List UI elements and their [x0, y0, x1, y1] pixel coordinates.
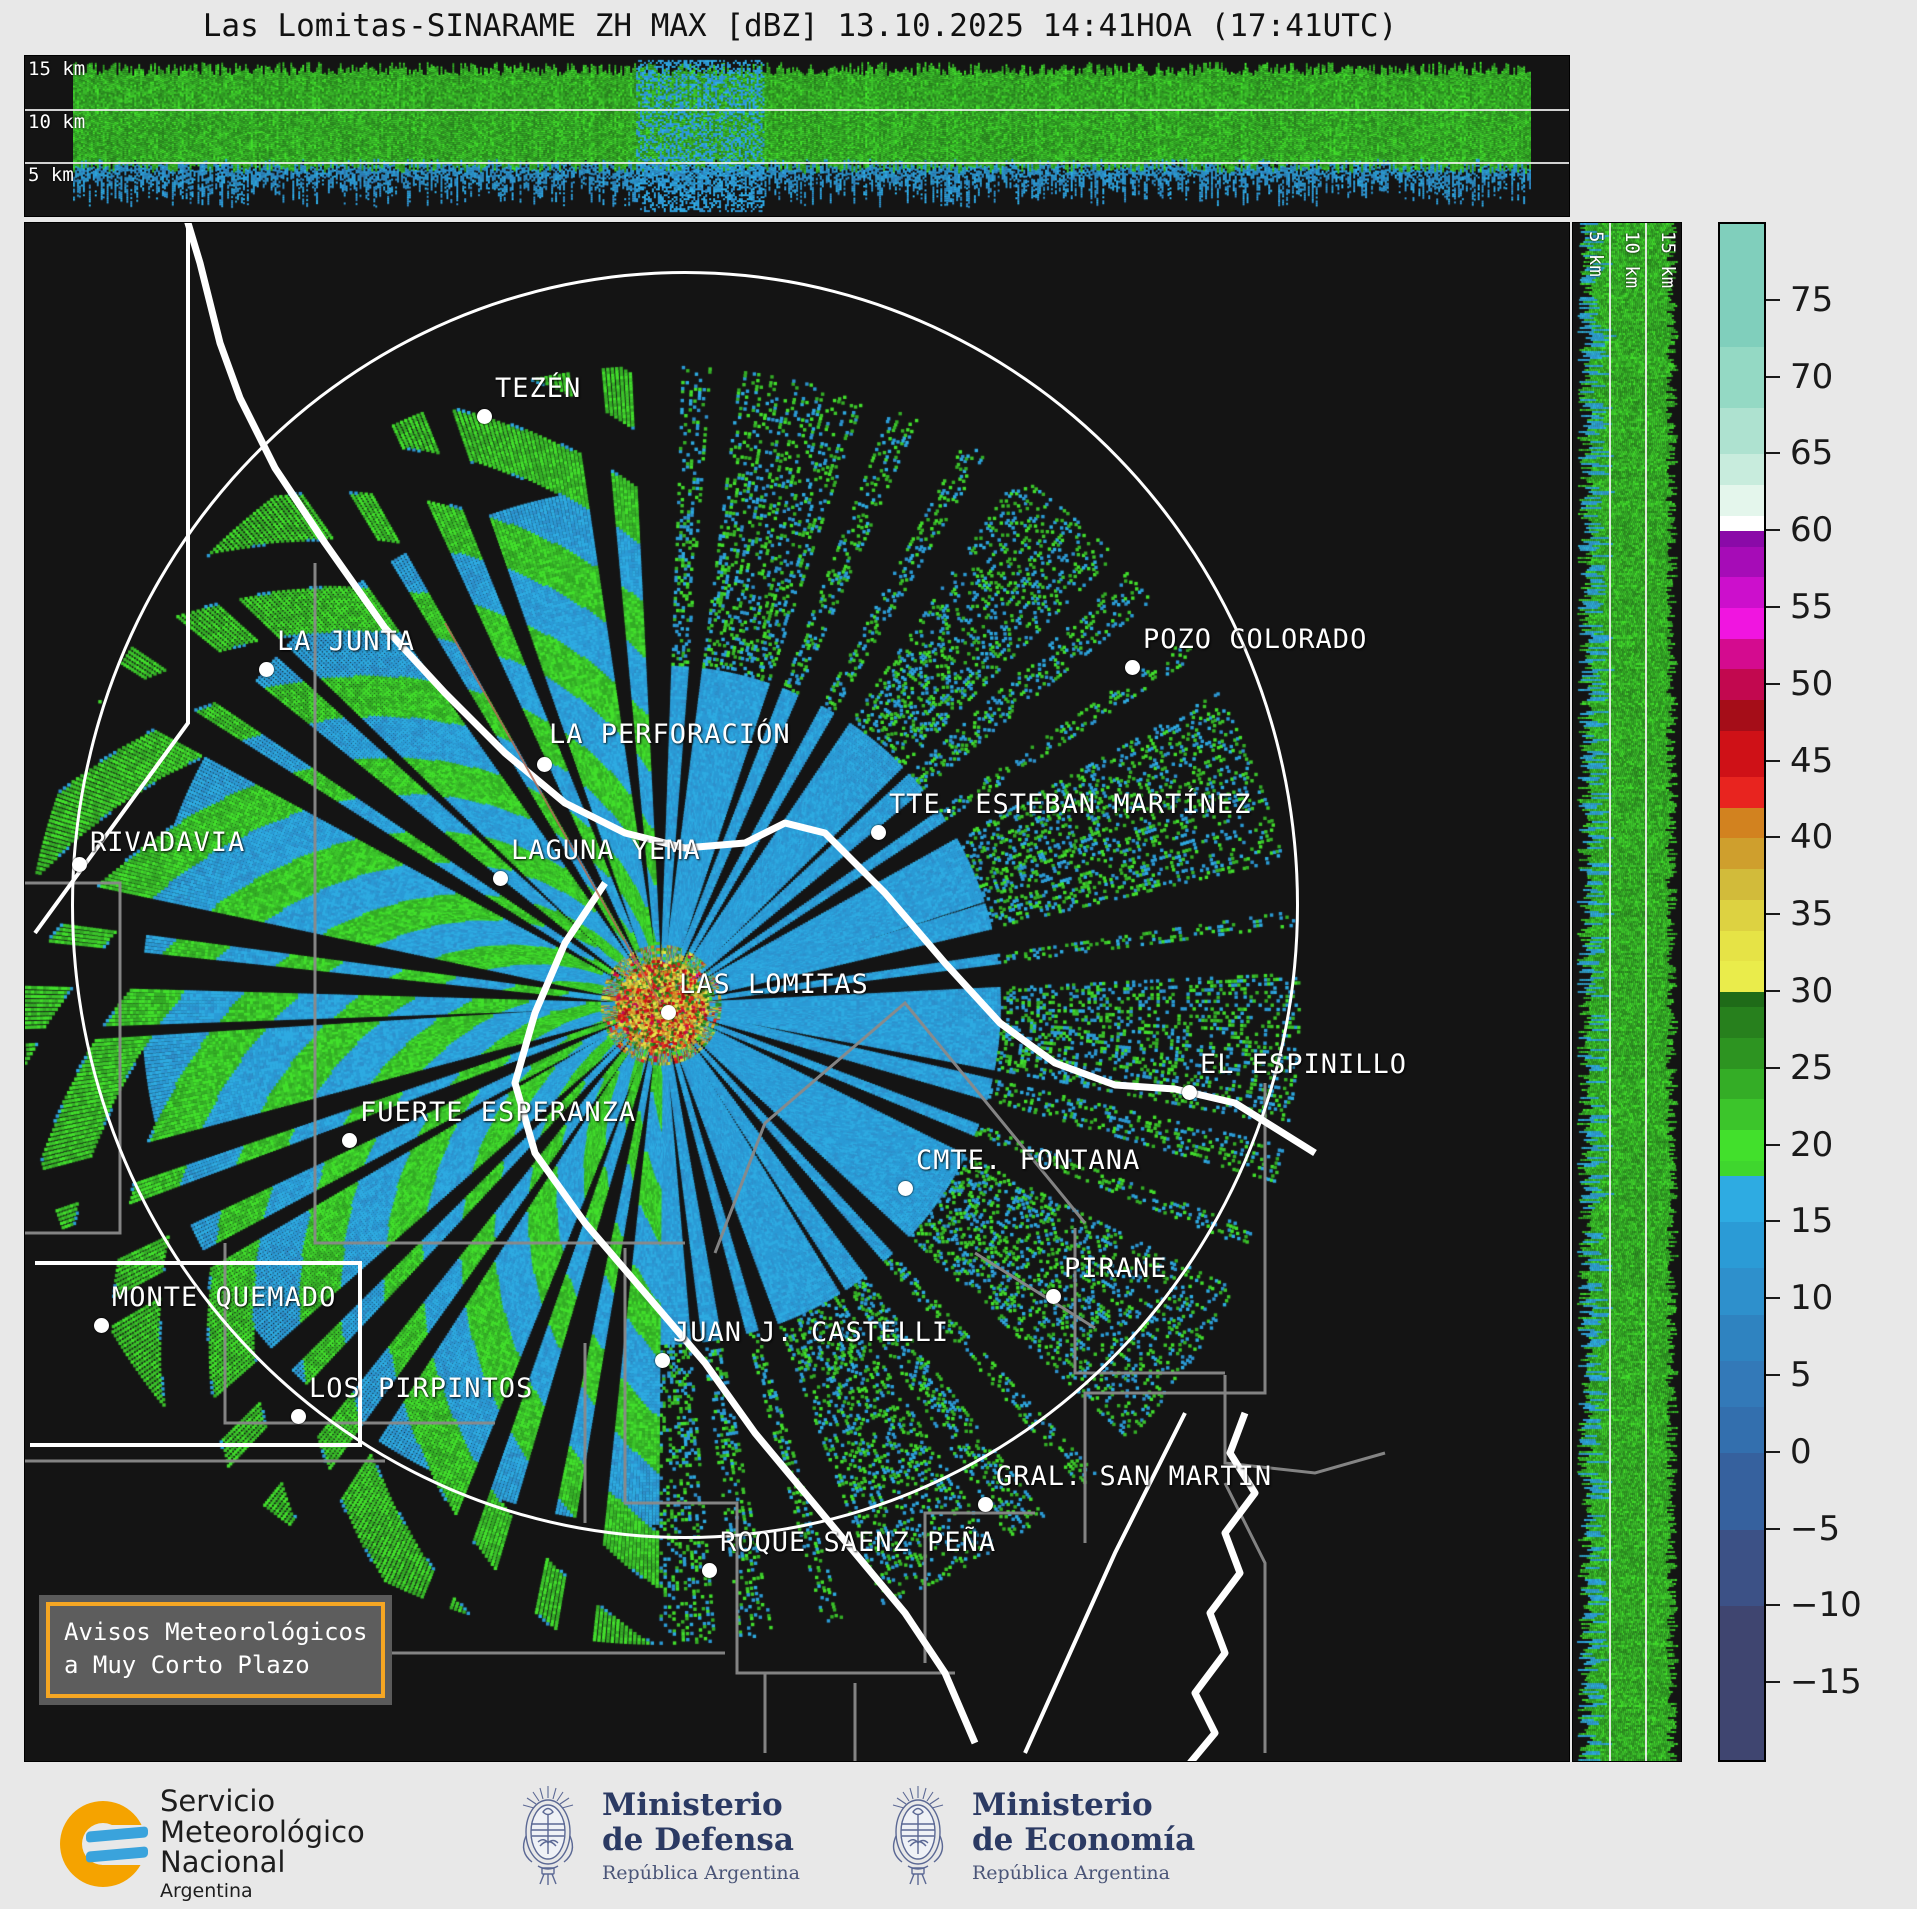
colorbar-segment — [1720, 1099, 1764, 1130]
range-ring-240km — [71, 271, 1299, 1539]
city-label: POZO COLORADO — [1143, 624, 1367, 655]
city-label: RIVADAVIA — [90, 827, 245, 858]
smn-line-2: Meteorológico — [160, 1817, 365, 1848]
colorbar-segment — [1720, 516, 1764, 531]
colorbar-segment — [1720, 485, 1764, 516]
colorbar-segment — [1720, 777, 1764, 808]
colorbar-segment — [1720, 1407, 1764, 1453]
colorbar-tick-label: −15 — [1790, 1662, 1862, 1702]
colorbar-tick-label: −10 — [1790, 1585, 1862, 1625]
city-dot-icon — [1125, 660, 1140, 675]
page-title: Las Lomitas-SINARAME ZH MAX [dBZ] 13.10.… — [0, 8, 1600, 44]
argentina-coat-of-arms-icon — [510, 1784, 586, 1888]
city-dot-icon — [702, 1563, 717, 1578]
colorbar-tick-label: 35 — [1790, 894, 1833, 934]
colorbar-segment — [1720, 731, 1764, 777]
right-label-15km: 15 km — [1657, 231, 1679, 288]
colorbar-tick-label: 15 — [1790, 1201, 1833, 1241]
city-label: JUAN J. CASTELLI — [673, 1317, 949, 1348]
city-label: LOS PIRPINTOS — [309, 1373, 533, 1404]
city-dot-icon — [1182, 1085, 1197, 1100]
city-dot-icon — [661, 1005, 676, 1020]
smn-logo-icon — [60, 1801, 146, 1887]
colorbar-tick-label: 70 — [1790, 357, 1833, 397]
colorbar-segment — [1720, 1453, 1764, 1530]
radar-map-panel[interactable]: TEZÉNLA JUNTAPOZO COLORADOLA PERFORACIÓN… — [24, 222, 1570, 1762]
colorbar-segment — [1720, 577, 1764, 608]
city-label: LAGUNA YEMA — [511, 835, 701, 866]
city-label: PIRANE — [1064, 1253, 1168, 1284]
defensa-line-2: de Defensa — [602, 1823, 800, 1858]
city-dot-icon — [291, 1409, 306, 1424]
colorbar-segment — [1720, 1176, 1764, 1222]
colorbar-segment — [1720, 1683, 1764, 1760]
colorbar — [1718, 222, 1766, 1762]
city-dot-icon — [1046, 1289, 1061, 1304]
top-cross-section-panel: 15 km 10 km 5 km — [24, 55, 1570, 217]
logo-smn: Servicio Meteorológico Nacional Argentin… — [60, 1786, 365, 1901]
right-cross-section-echo — [1573, 223, 1682, 1762]
smn-line-1: Servicio — [160, 1786, 365, 1817]
colorbar-tick-label: 75 — [1790, 280, 1833, 320]
colorbar-segment — [1720, 961, 1764, 992]
city-label: CMTE. FONTANA — [916, 1145, 1140, 1176]
logo-ministerio-economia: Ministerio de Economía República Argenti… — [880, 1784, 1195, 1888]
colorbar-tick-label: 40 — [1790, 817, 1833, 857]
colorbar-segment — [1720, 531, 1764, 546]
logo-ministerio-defensa: Ministerio de Defensa República Argentin… — [510, 1784, 800, 1888]
colorbar-segment — [1720, 1069, 1764, 1100]
city-label: LA PERFORACIÓN — [549, 719, 791, 750]
city-label: LA JUNTA — [277, 626, 415, 657]
colorbar-segment — [1720, 1361, 1764, 1407]
colorbar-tick-label: 45 — [1790, 741, 1833, 781]
city-label: LAS LOMITAS — [679, 969, 869, 1000]
city-label: ROQUE SAENZ PEÑA — [720, 1527, 996, 1558]
colorbar-segment — [1720, 608, 1764, 639]
colorbar-tick-label: 55 — [1790, 587, 1833, 627]
city-dot-icon — [537, 757, 552, 772]
city-label: TTE. ESTEBAN MARTÍNEZ — [889, 789, 1251, 820]
argentina-coat-of-arms-icon — [880, 1784, 956, 1888]
city-dot-icon — [342, 1133, 357, 1148]
city-dot-icon — [94, 1318, 109, 1333]
right-height-line-5km — [1609, 223, 1611, 1761]
colorbar-segment — [1720, 547, 1764, 578]
colorbar-segment — [1720, 808, 1764, 839]
right-cross-section-panel: 5 km 10 km 15 km — [1572, 222, 1682, 1762]
colorbar-segment — [1720, 408, 1764, 454]
colorbar-tick-label: 25 — [1790, 1048, 1833, 1088]
defensa-line-3: República Argentina — [602, 1862, 800, 1884]
city-dot-icon — [871, 825, 886, 840]
smn-line-4: Argentina — [160, 1881, 365, 1901]
city-label: TEZÉN — [495, 373, 581, 404]
colorbar-segment — [1720, 1161, 1764, 1176]
colorbar-tick-label: 20 — [1790, 1125, 1833, 1165]
colorbar-segment — [1720, 700, 1764, 731]
colorbar-segment — [1720, 1222, 1764, 1268]
city-dot-icon — [259, 662, 274, 677]
colorbar-segment — [1720, 1268, 1764, 1314]
city-label: FUERTE ESPERANZA — [360, 1097, 636, 1128]
right-label-5km: 5 km — [1585, 231, 1607, 277]
top-height-line-10km — [25, 109, 1569, 111]
colorbar-segment — [1720, 931, 1764, 962]
colorbar-tick-label: 30 — [1790, 971, 1833, 1011]
top-label-15km: 15 km — [28, 58, 85, 80]
colorbar-segment — [1720, 1007, 1764, 1038]
defensa-line-1: Ministerio — [602, 1788, 800, 1823]
colorbar-segment — [1720, 669, 1764, 700]
city-dot-icon — [655, 1353, 670, 1368]
city-dot-icon — [493, 871, 508, 886]
avisos-line-1: Avisos Meteorológicos — [64, 1616, 367, 1649]
footer-logos: Servicio Meteorológico Nacional Argentin… — [0, 1770, 1917, 1909]
colorbar-segment — [1720, 838, 1764, 869]
city-label: MONTE QUEMADO — [112, 1282, 336, 1313]
colorbar-tick-label: 10 — [1790, 1278, 1833, 1318]
avisos-legend-box[interactable]: Avisos Meteorológicos a Muy Corto Plazo — [39, 1595, 392, 1705]
colorbar-segment — [1720, 224, 1764, 347]
right-label-10km: 10 km — [1621, 231, 1643, 288]
colorbar-segment — [1720, 1530, 1764, 1607]
colorbar-tick-label: 5 — [1790, 1355, 1812, 1395]
colorbar-segment — [1720, 347, 1764, 408]
colorbar-tick-label: 0 — [1790, 1432, 1812, 1472]
city-label: EL ESPINILLO — [1200, 1049, 1407, 1080]
top-height-line-5km — [25, 162, 1569, 164]
colorbar-segment — [1720, 639, 1764, 670]
top-label-5km: 5 km — [28, 164, 74, 186]
smn-line-3: Nacional — [160, 1847, 365, 1878]
colorbar-segment — [1720, 869, 1764, 900]
city-dot-icon — [898, 1181, 913, 1196]
economia-line-3: República Argentina — [972, 1862, 1195, 1884]
city-dot-icon — [72, 857, 87, 872]
colorbar-tick-layer: −15−10−5051015202530354045505560657075 — [1766, 222, 1906, 1762]
colorbar-tick-label: 65 — [1790, 433, 1833, 473]
economia-line-2: de Economía — [972, 1823, 1195, 1858]
city-dot-icon — [978, 1497, 993, 1512]
colorbar-segment — [1720, 992, 1764, 1007]
colorbar-tick-label: −5 — [1790, 1509, 1840, 1549]
top-label-10km: 10 km — [28, 111, 85, 133]
colorbar-segment — [1720, 454, 1764, 485]
economia-line-1: Ministerio — [972, 1788, 1195, 1823]
right-height-line-10km — [1645, 223, 1647, 1761]
city-dot-icon — [477, 409, 492, 424]
colorbar-segment — [1720, 900, 1764, 931]
colorbar-segment — [1720, 1315, 1764, 1361]
colorbar-segment — [1720, 1038, 1764, 1069]
colorbar-segment — [1720, 1130, 1764, 1161]
avisos-line-2: a Muy Corto Plazo — [64, 1649, 367, 1682]
colorbar-tick-label: 60 — [1790, 510, 1833, 550]
city-label: GRAL. SAN MARTIN — [996, 1461, 1272, 1492]
colorbar-segment — [1720, 1606, 1764, 1683]
top-cross-section-echo — [73, 56, 1531, 216]
colorbar-tick-label: 50 — [1790, 664, 1833, 704]
